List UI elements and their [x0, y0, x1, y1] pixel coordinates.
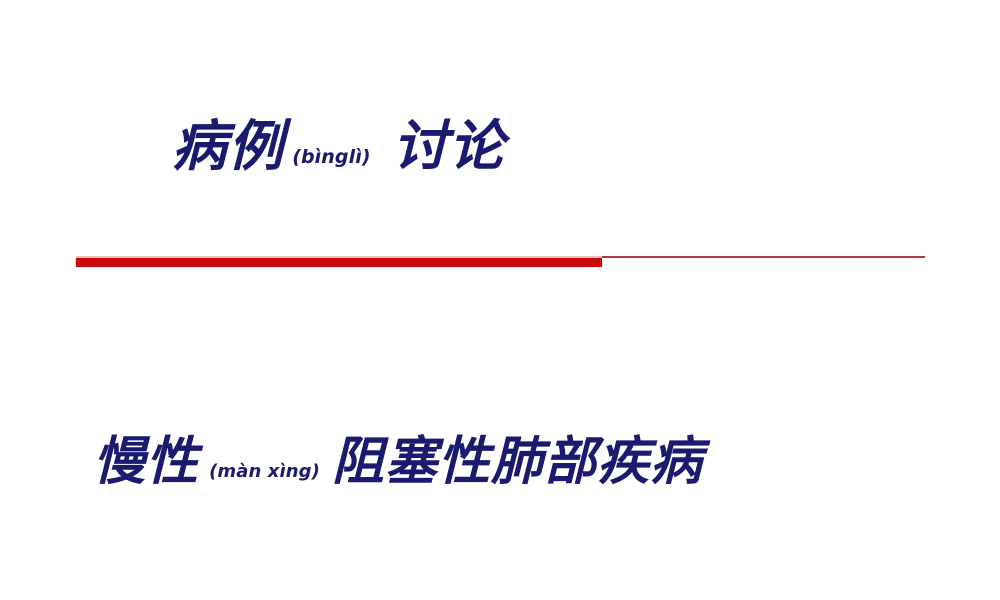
subtitle-han-lead: 慢性: [93, 431, 199, 492]
title-han-tail: 讨论: [377, 113, 505, 178]
subtitle-pinyin-annotation: (màn xìng): [199, 461, 324, 482]
slide-title: 病例(bìnglì)讨论: [172, 118, 505, 173]
divider-thick-bar: [76, 256, 602, 267]
presentation-slide: 病例(bìnglì)讨论 慢性(màn xìng)阻塞性肺部疾病: [0, 0, 1000, 600]
subtitle-han-tail: 阻塞性肺部疾病: [324, 431, 703, 492]
title-divider: [0, 255, 1000, 271]
slide-subtitle: 慢性(màn xìng)阻塞性肺部疾病: [93, 436, 703, 488]
title-pinyin-annotation: (bìnglì): [284, 146, 376, 168]
title-han-lead: 病例: [172, 113, 284, 178]
